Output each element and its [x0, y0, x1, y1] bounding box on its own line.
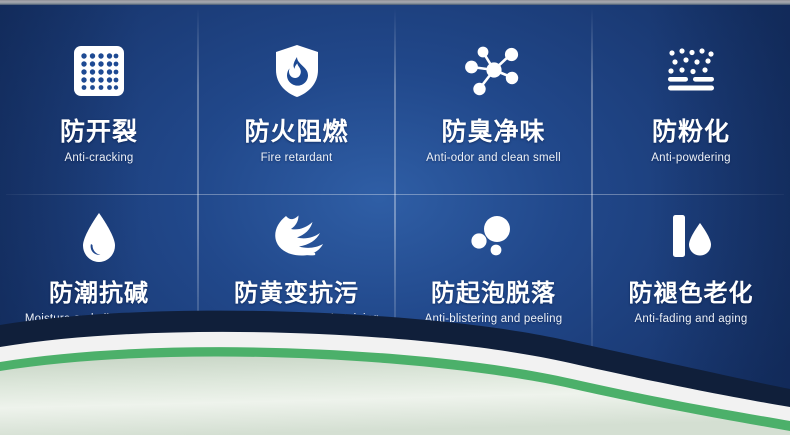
bottom-wave-decoration — [0, 305, 790, 435]
water-droplet-icon — [79, 208, 119, 268]
shield-flame-icon — [272, 38, 322, 104]
feature-title-cn: 防褪色老化 — [629, 280, 754, 308]
feature-banner: 防开裂 Anti-cracking 防火阻燃 Fire retardant — [0, 0, 790, 435]
feature-title-cn: 防潮抗碱 — [49, 280, 149, 308]
feature-grid: 防开裂 Anti-cracking 防火阻燃 Fire retardant — [0, 4, 790, 344]
feature-title-cn: 防臭净味 — [441, 118, 545, 147]
feature-title-en: Anti-cracking — [64, 152, 133, 164]
feature-cell-anti-odor[interactable]: 防臭净味 Anti-odor and clean smell — [395, 4, 592, 194]
feature-title-cn: 防火阻燃 — [244, 118, 348, 147]
feature-title-cn: 防粉化 — [652, 118, 730, 147]
top-strip — [0, 0, 790, 5]
bubbles-icon — [467, 208, 521, 268]
feature-title-cn: 防开裂 — [60, 118, 138, 147]
feature-cell-fire-retardant[interactable]: 防火阻燃 Fire retardant — [198, 4, 395, 194]
dot-grid-icon — [70, 38, 128, 104]
feature-title-en: Fire retardant — [261, 152, 333, 164]
molecule-icon — [463, 38, 525, 104]
leaf-icon — [269, 208, 325, 268]
bar-droplet-icon — [667, 208, 715, 268]
feature-title-en: Anti-odor and clean smell — [426, 152, 561, 164]
powder-layers-icon — [663, 38, 719, 104]
feature-title-en: Anti-powdering — [651, 152, 731, 164]
feature-cell-anti-powdering[interactable]: 防粉化 Anti-powdering — [592, 4, 790, 194]
feature-title-cn: 防黄变抗污 — [234, 280, 359, 308]
feature-title-cn: 防起泡脱落 — [431, 280, 556, 308]
feature-cell-anti-cracking[interactable]: 防开裂 Anti-cracking — [0, 4, 198, 194]
